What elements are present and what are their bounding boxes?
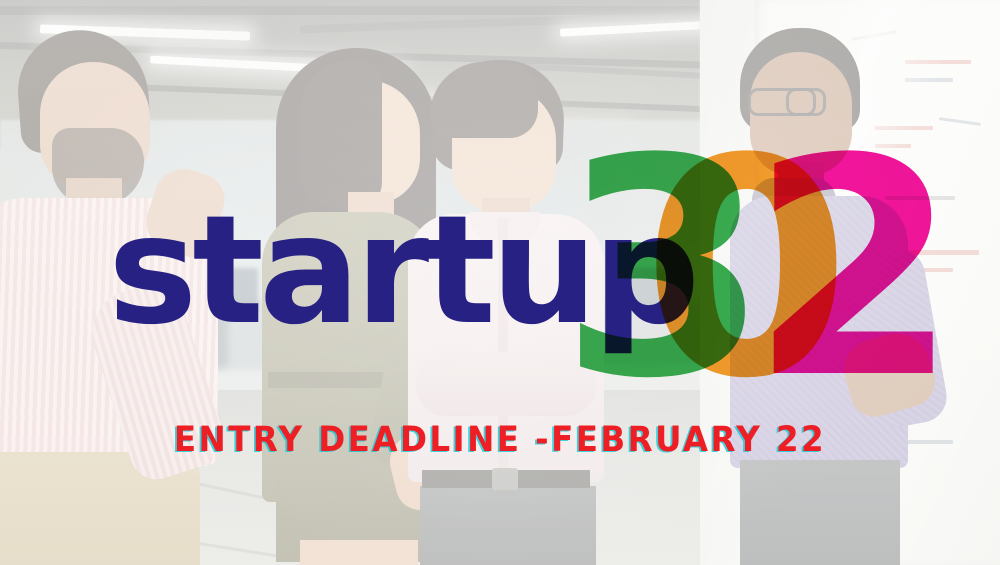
- numeral-2: 2: [750, 120, 959, 420]
- entry-deadline-text: ENTRY DEADLINE -FEBRUARY 22: [35, 420, 965, 460]
- brand-numerals: 3 0 2: [560, 142, 890, 402]
- promo-poster: startup 3 0 2 ENTRY DEADLINE -FEBRUARY 2…: [0, 0, 1000, 565]
- poster-content: startup 3 0 2 ENTRY DEADLINE -FEBRUARY 2…: [0, 0, 1000, 565]
